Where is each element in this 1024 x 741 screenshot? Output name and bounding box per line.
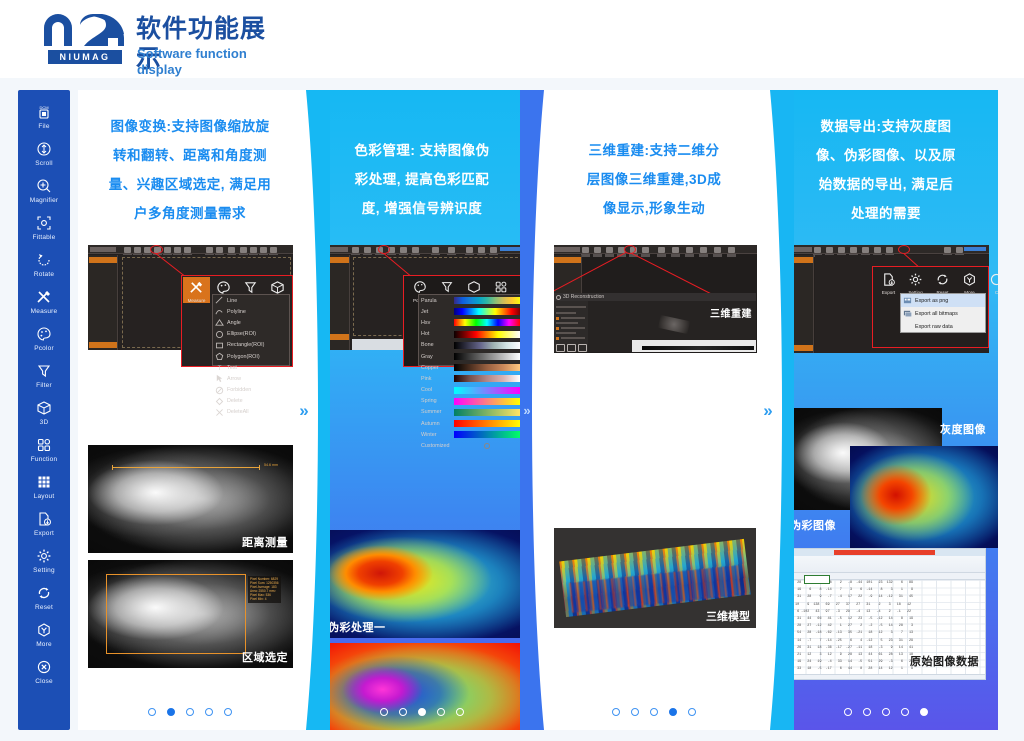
menu-item-delete-all[interactable]: DeleteAll bbox=[213, 407, 289, 418]
carousel-dots[interactable] bbox=[78, 708, 302, 716]
carousel-dot[interactable] bbox=[612, 708, 620, 716]
roi-stats-box: Pixel Number: 6829 Pixel Sum: 1250356 Pi… bbox=[248, 576, 281, 603]
recon-3d-object bbox=[657, 315, 689, 334]
sidebar-label: Magnifier bbox=[30, 197, 59, 204]
menu-item-text[interactable]: TText bbox=[213, 362, 289, 373]
app-logo bbox=[554, 247, 580, 252]
distance-value: 54.6 mm bbox=[264, 463, 278, 467]
palette-item-copper[interactable]: Copper bbox=[419, 362, 523, 373]
reset-arrows-icon bbox=[36, 584, 52, 602]
palette-swatch bbox=[454, 353, 520, 360]
sidebar-item-measure[interactable]: Measure bbox=[18, 283, 70, 320]
palette-item-autumn[interactable]: Autumn bbox=[419, 418, 523, 429]
palette-swatch bbox=[454, 297, 520, 304]
delete-all-icon bbox=[215, 408, 224, 417]
rotate-icon bbox=[36, 251, 52, 269]
result-raw-data-spreadsheet[interactable]: 28 35 12 28 2 -8 -44 101 23 132 6 89 19 … bbox=[790, 548, 986, 680]
pcolor-menu-callout[interactable]: Pcolor Parula Jet Hsv Hot bbox=[403, 275, 525, 367]
palette-item-hot[interactable]: Hot bbox=[419, 329, 523, 340]
toolbar-button-more[interactable]: More bbox=[956, 269, 983, 295]
customized-gear-icon[interactable] bbox=[484, 443, 490, 449]
menu-item-forbidden[interactable]: Forbidden bbox=[213, 385, 289, 396]
carousel-dot[interactable] bbox=[148, 708, 156, 716]
sidebar-label: Rotate bbox=[34, 271, 54, 278]
palette-swatch bbox=[454, 308, 520, 315]
sidebar-item-layout[interactable]: Layout bbox=[18, 468, 70, 505]
palette-swatch bbox=[454, 420, 520, 427]
more-hex-icon bbox=[36, 621, 52, 639]
polygon-icon bbox=[215, 352, 224, 361]
window-controls[interactable] bbox=[500, 247, 522, 251]
excel-sheet-tabs[interactable] bbox=[791, 674, 985, 679]
carousel-dot-active[interactable] bbox=[920, 708, 928, 716]
palette-icon bbox=[36, 325, 52, 343]
toolbar-button-measure[interactable]: Measure bbox=[183, 277, 210, 303]
menu-item-rectangle-roi[interactable]: Rectangle(ROI) bbox=[213, 340, 289, 351]
carousel-dot[interactable] bbox=[863, 708, 871, 716]
reset-arrows-icon bbox=[935, 269, 950, 289]
sidebar-item-more[interactable]: More bbox=[18, 616, 70, 653]
sidebar-item-reset[interactable]: Reset bbox=[18, 579, 70, 616]
palette-item-bone[interactable]: Bone bbox=[419, 340, 523, 351]
sidebar-item-3d[interactable]: 3D bbox=[18, 394, 70, 431]
bitmaps-icon bbox=[903, 309, 912, 318]
carousel-dot[interactable] bbox=[631, 708, 639, 716]
carousel-dot[interactable] bbox=[882, 708, 890, 716]
sidebar-label: Scroll bbox=[35, 160, 52, 167]
pcolor-dropdown-menu[interactable]: Parula Jet Hsv Hot Bone Gray Copper Pink… bbox=[418, 294, 524, 366]
palette-item-customized[interactable]: Customized bbox=[419, 440, 523, 451]
sidebar-label: Setting bbox=[33, 567, 55, 574]
excel-titlebar bbox=[791, 549, 985, 556]
sidebar-item-pcolor[interactable]: Pcolor bbox=[18, 320, 70, 357]
toolbar-button-close[interactable]: C bbox=[983, 269, 998, 295]
result-roi-selection[interactable]: Pixel Number: 6829 Pixel Sum: 1250356 Pi… bbox=[88, 560, 293, 668]
recon-profile-plot bbox=[632, 340, 756, 352]
carousel-dot[interactable] bbox=[437, 708, 445, 716]
carousel-dot-active[interactable] bbox=[418, 708, 426, 716]
rectangle-icon bbox=[215, 341, 224, 350]
column-heading: 数据导出:支持灰度图 像、伪彩图像、以及原 始数据的导出, 满足后 处理的需要 bbox=[774, 112, 998, 228]
result-caption: 距离测量 bbox=[242, 534, 288, 550]
menu-item-polygon-roi[interactable]: Polygon(ROI) bbox=[213, 351, 289, 362]
sidebar-item-setting[interactable]: Setting bbox=[18, 542, 70, 579]
result-pseudocolor-2[interactable]: 伪彩处理二 bbox=[322, 643, 524, 730]
sidebar-label: More bbox=[36, 641, 52, 648]
export-icon bbox=[881, 269, 896, 289]
polyline-icon bbox=[215, 307, 224, 316]
gear-icon bbox=[36, 547, 52, 565]
toolbar-label: Measure bbox=[188, 298, 206, 303]
more-hex-icon bbox=[962, 269, 977, 289]
carousel-dot[interactable] bbox=[650, 708, 658, 716]
carousel-dot[interactable] bbox=[688, 708, 696, 716]
menu-item-ellipse-roi[interactable]: Ellipse(ROI) bbox=[213, 329, 289, 340]
tool-sidebar: DCM File Scroll Magnifier Fittable Rotat… bbox=[18, 90, 70, 730]
forbidden-icon bbox=[215, 386, 224, 395]
scroll-icon bbox=[36, 140, 52, 158]
feature-column-data-export: 数据导出:支持灰度图 像、伪彩图像、以及原 始数据的导出, 满足后 处理的需要 bbox=[774, 90, 998, 730]
sidebar-label: Measure bbox=[31, 308, 58, 315]
palette-item-parula[interactable]: Parula bbox=[419, 295, 523, 306]
page-header: NIUMAG 软件功能展示 Software function display bbox=[0, 0, 1024, 78]
palette-item-gray[interactable]: Gray bbox=[419, 351, 523, 362]
sidebar-item-scroll[interactable]: Scroll bbox=[18, 135, 70, 172]
carousel-dot[interactable] bbox=[380, 708, 388, 716]
ellipse-icon bbox=[215, 330, 224, 339]
roi-rectangle bbox=[106, 574, 246, 654]
menu-item-export-all-bitmaps[interactable]: Export all bitmaps bbox=[901, 307, 985, 320]
sidebar-label: Function bbox=[31, 456, 58, 463]
menu-item-polyline[interactable]: Polyline bbox=[213, 306, 289, 317]
sidebar-label: File bbox=[38, 123, 49, 130]
carousel-dot[interactable] bbox=[205, 708, 213, 716]
measure-menu-callout[interactable]: Measure Line Polyline Angle Ellipse(ROI)… bbox=[181, 275, 293, 367]
sidebar-item-close[interactable]: Close bbox=[18, 653, 70, 690]
measure-icon bbox=[36, 288, 52, 306]
menu-item-line[interactable]: Line bbox=[213, 295, 289, 306]
toolbar-button-reset[interactable]: Reset bbox=[929, 269, 956, 295]
fit-to-table-icon bbox=[36, 214, 52, 232]
carousel-dot[interactable] bbox=[399, 708, 407, 716]
palette-item-cool[interactable]: Cool bbox=[419, 385, 523, 396]
result-distance-measure[interactable]: 54.6 mm 距离测量 bbox=[88, 445, 293, 553]
caption-raw-image-data: 原始图像数据 bbox=[910, 653, 979, 669]
delete-icon bbox=[215, 397, 224, 406]
measure-dropdown-menu[interactable]: Line Polyline Angle Ellipse(ROI) Rectang… bbox=[212, 294, 290, 366]
palette-swatch bbox=[454, 319, 520, 326]
3d-reconstruction-window[interactable]: 3D Reconstruction bbox=[554, 293, 756, 352]
result-pseudocolor-image[interactable] bbox=[850, 446, 998, 548]
feature-column-color-management: 色彩管理: 支持图像伪 彩处理, 提高色彩匹配 度, 增强信号辨识度 bbox=[310, 90, 534, 730]
carousel-dot-active[interactable] bbox=[669, 708, 677, 716]
toolbar-button-setting[interactable]: Setting bbox=[902, 269, 929, 295]
window-title: 3D Reconstruction bbox=[554, 293, 756, 301]
excel-title-highlight bbox=[834, 550, 935, 555]
distance-measure-line bbox=[112, 467, 260, 468]
page-subtitle: Software function display bbox=[137, 46, 290, 78]
toolbar-label: C bbox=[995, 290, 998, 295]
result-pseudocolor-1[interactable]: 伪彩处理一 bbox=[322, 530, 524, 638]
palette-swatch bbox=[454, 387, 520, 394]
sidebar-label: Fittable bbox=[33, 234, 56, 241]
window-icon bbox=[556, 295, 561, 300]
sidebar-item-function[interactable]: Function bbox=[18, 431, 70, 468]
palette-swatch bbox=[454, 342, 520, 349]
sidebar-label: Pcolor bbox=[34, 345, 54, 352]
sidebar-label: Close bbox=[35, 678, 53, 685]
sidebar-item-fittable[interactable]: Fittable bbox=[18, 209, 70, 246]
palette-swatch bbox=[454, 331, 520, 338]
export-dropdown-menu[interactable]: Export as png Export all bitmaps Export … bbox=[900, 293, 986, 333]
layout-grid-icon bbox=[36, 473, 52, 491]
palette-item-summer[interactable]: Summer bbox=[419, 407, 523, 418]
menu-item-export-raw-data[interactable]: Export raw data bbox=[901, 320, 985, 333]
arrow-cursor-icon bbox=[215, 374, 224, 383]
app-screenshot-3d[interactable]: 3D Reconstruction bbox=[552, 245, 757, 353]
excel-ribbon bbox=[791, 556, 985, 573]
feature-column-image-transform: 图像变换:支持图像缩放旋 转和翻转、距离和角度测 量、兴趣区域选定, 满足用 户… bbox=[78, 90, 302, 730]
carousel-dot[interactable] bbox=[224, 708, 232, 716]
excel-selected-cell[interactable] bbox=[804, 575, 830, 584]
palette-item-spring[interactable]: Spring bbox=[419, 396, 523, 407]
magnifier-icon bbox=[36, 177, 52, 195]
column-separator-3: » bbox=[760, 90, 794, 730]
sidebar-item-file[interactable]: DCM File bbox=[18, 98, 70, 135]
recon-3d-viewport[interactable]: 三维重建 bbox=[588, 301, 756, 352]
column-separator-2: » bbox=[520, 90, 554, 730]
carousel-dot[interactable] bbox=[456, 708, 464, 716]
carousel-dots[interactable] bbox=[542, 708, 766, 716]
result-caption: 三维模型 bbox=[706, 608, 750, 624]
palette-swatch bbox=[454, 409, 520, 416]
palette-swatch bbox=[454, 398, 520, 405]
window-controls[interactable] bbox=[964, 247, 986, 251]
sidebar-item-export[interactable]: Export bbox=[18, 505, 70, 542]
feature-column-3d-reconstruction: 三维重建:支持二维分 层图像三维重建,3D成 像显示,形象生动 bbox=[542, 90, 766, 730]
menu-item-export-as-png[interactable]: Export as png bbox=[901, 294, 985, 307]
filter-funnel-icon bbox=[36, 362, 52, 380]
result-3d-model[interactable]: 三维模型 bbox=[554, 528, 756, 628]
caption-pseudocolor-image: 伪彩图像 bbox=[790, 517, 836, 533]
column-heading: 三维重建:支持二维分 层图像三维重建,3D成 像显示,形象生动 bbox=[542, 136, 766, 223]
cube-icon bbox=[36, 399, 52, 417]
sidebar-label: 3D bbox=[40, 419, 49, 426]
caption-grayscale-image: 灰度图像 bbox=[940, 421, 986, 437]
measure-icon bbox=[189, 277, 204, 297]
line-icon bbox=[215, 296, 224, 305]
column-separator-1: » bbox=[296, 90, 330, 730]
carousel-dot[interactable] bbox=[844, 708, 852, 716]
column-heading: 色彩管理: 支持图像伪 彩处理, 提高色彩匹配 度, 增强信号辨识度 bbox=[310, 136, 534, 223]
logo: NIUMAG 软件功能展示 Software function display bbox=[40, 14, 290, 66]
palette-swatch bbox=[454, 431, 520, 438]
palette-item-winter[interactable]: Winter bbox=[419, 429, 523, 440]
palette-swatch bbox=[454, 364, 520, 371]
toolbar-label: Export bbox=[882, 290, 895, 295]
svg-text:T: T bbox=[218, 365, 222, 372]
sidebar-label: Export bbox=[34, 530, 54, 537]
carousel-dot[interactable] bbox=[901, 708, 909, 716]
chevron-right-icon: » bbox=[299, 402, 308, 419]
export-menu-callout[interactable]: Export Setting Reset More C bbox=[872, 266, 989, 348]
menu-item-delete[interactable]: Delete bbox=[213, 396, 289, 407]
sidebar-label: Reset bbox=[35, 604, 53, 611]
dicom-file-icon: DCM bbox=[36, 103, 52, 121]
sidebar-item-magnifier[interactable]: Magnifier bbox=[18, 172, 70, 209]
svg-text:DCM: DCM bbox=[39, 105, 48, 110]
carousel-dots[interactable] bbox=[774, 708, 998, 716]
result-caption: 区域选定 bbox=[242, 649, 288, 665]
carousel-dot[interactable] bbox=[186, 708, 194, 716]
chevron-right-icon: » bbox=[763, 402, 772, 419]
png-icon bbox=[903, 296, 912, 305]
carousel-dot-active[interactable] bbox=[167, 708, 175, 716]
result-caption: 伪彩处理一 bbox=[328, 619, 386, 635]
sidebar-item-filter[interactable]: Filter bbox=[18, 357, 70, 394]
gear-icon bbox=[908, 269, 923, 289]
palette-item-pink[interactable]: Pink bbox=[419, 373, 523, 384]
palette-item-jet[interactable]: Jet bbox=[419, 306, 523, 317]
palette-swatch bbox=[454, 375, 520, 382]
export-icon bbox=[36, 510, 52, 528]
chevron-right-icon: » bbox=[523, 404, 530, 417]
palette-item-hsv[interactable]: Hsv bbox=[419, 317, 523, 328]
app-logo bbox=[90, 247, 116, 252]
toolbar-button-export[interactable]: Export bbox=[875, 269, 902, 295]
sidebar-item-rotate[interactable]: Rotate bbox=[18, 246, 70, 283]
close-circle-icon bbox=[36, 658, 52, 676]
close-circle-icon bbox=[989, 269, 998, 289]
viewport-caption: 三维重建 bbox=[710, 305, 752, 320]
column-heading: 图像变换:支持图像缩放旋 转和翻转、距离和角度测 量、兴趣区域选定, 满足用 户… bbox=[78, 112, 302, 228]
recon-controls-panel[interactable] bbox=[554, 301, 588, 352]
o2-logo-mark bbox=[40, 14, 128, 48]
sidebar-label: Filter bbox=[36, 382, 52, 389]
function-blocks-icon bbox=[36, 436, 52, 454]
angle-icon bbox=[215, 318, 224, 327]
text-icon: T bbox=[215, 363, 224, 372]
sidebar-label: Layout bbox=[34, 493, 55, 500]
logo-badge: NIUMAG bbox=[48, 50, 122, 64]
carousel-dots[interactable] bbox=[310, 708, 534, 716]
expanded-toolbar[interactable]: Export Setting Reset More C bbox=[875, 269, 998, 295]
menu-item-angle[interactable]: Angle bbox=[213, 317, 289, 328]
menu-item-arrow[interactable]: Arrow bbox=[213, 373, 289, 384]
window-left-pane bbox=[88, 255, 118, 350]
content-stage: DCM File Scroll Magnifier Fittable Rotat… bbox=[0, 78, 1024, 741]
